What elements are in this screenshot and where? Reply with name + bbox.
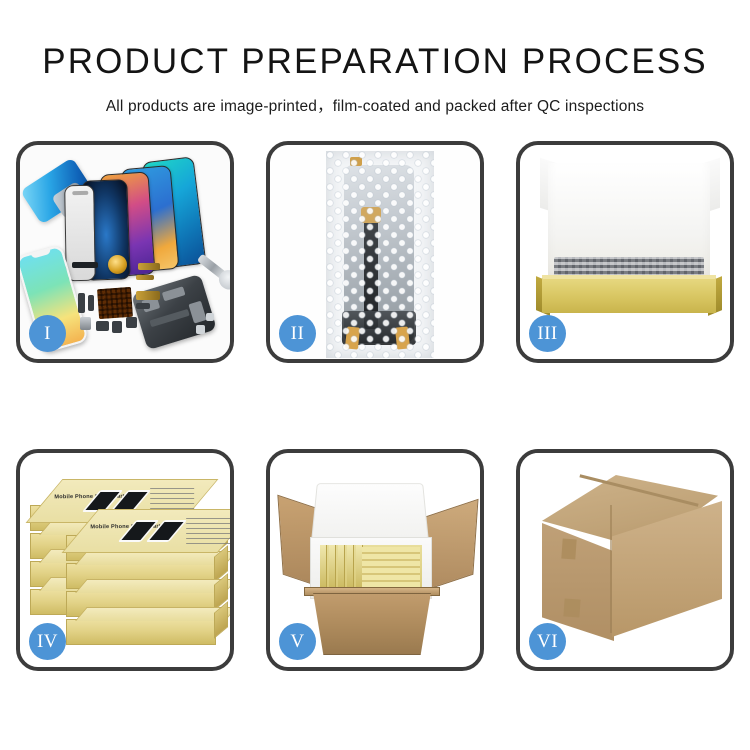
chip-grid-graphic xyxy=(97,287,133,319)
process-step-panel-2[interactable]: II xyxy=(266,141,484,363)
part-graphic xyxy=(136,303,150,309)
part-graphic xyxy=(138,263,160,270)
box-front-graphic xyxy=(542,279,716,313)
bubble-texture xyxy=(326,151,434,358)
bubble-wrap-bag-graphic xyxy=(326,151,434,358)
part-graphic xyxy=(196,325,205,334)
carton-body-graphic xyxy=(308,593,436,655)
screwdriver-graphic xyxy=(197,253,229,281)
process-step-panel-5[interactable]: V xyxy=(266,449,484,671)
packed-boxes-graphic xyxy=(320,545,422,589)
part-graphic xyxy=(136,291,160,300)
rear-housing-graphic xyxy=(131,274,217,351)
page-subtitle: All products are image-printed，film-coat… xyxy=(0,94,750,116)
header: PRODUCT PREPARATION PROCESS All products… xyxy=(0,0,750,116)
step-badge-3: III xyxy=(529,315,566,352)
part-graphic xyxy=(206,313,214,321)
step-badge-2: II xyxy=(279,315,316,352)
part-graphic xyxy=(136,275,154,280)
step-badge-6: VI xyxy=(529,623,566,660)
box-spec-text-graphic xyxy=(186,518,230,546)
part-graphic xyxy=(80,317,91,330)
step-badge-4: IV xyxy=(29,623,66,660)
part-graphic xyxy=(112,321,122,333)
process-step-grid: I II xyxy=(16,141,734,671)
carton-fold-graphic xyxy=(610,505,612,633)
product-preparation-page: PRODUCT PREPARATION PROCESS All products… xyxy=(0,0,750,750)
carton-tape-graphic xyxy=(561,539,576,560)
part-graphic xyxy=(78,293,85,313)
retail-box-graphic xyxy=(66,619,216,645)
process-step-panel-1[interactable]: I xyxy=(16,141,234,363)
coil-part-graphic xyxy=(108,255,127,274)
process-step-panel-3[interactable]: III xyxy=(516,141,734,363)
part-graphic xyxy=(126,317,137,328)
part-graphic xyxy=(88,295,94,311)
page-title: PRODUCT PREPARATION PROCESS xyxy=(0,42,750,82)
part-graphic xyxy=(72,262,98,268)
step-badge-1: I xyxy=(29,315,66,352)
process-step-panel-6[interactable]: VI xyxy=(516,449,734,671)
foam-lid-graphic xyxy=(311,483,429,544)
step-badge-5: V xyxy=(279,623,316,660)
carton-tape-graphic xyxy=(563,598,580,617)
part-graphic xyxy=(96,321,109,331)
process-step-panel-4[interactable]: Mobile Phone Spare Parts Mobile Phone Sp… xyxy=(16,449,234,671)
